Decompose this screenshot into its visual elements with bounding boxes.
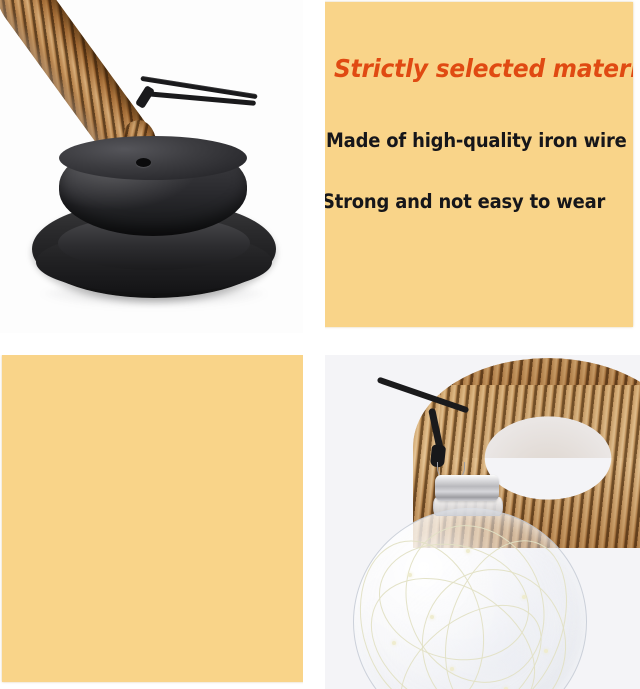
delicate-lamp-holder-panel: Delicate lamp holder Excellent and delic…: [2, 355, 312, 682]
body-line-strong-not-easy-to-wear: Strong and not easy to wear: [322, 190, 605, 213]
fairy-light-bead: [430, 615, 434, 619]
glass-globe-photo: [325, 350, 640, 689]
fairy-light-bead: [466, 549, 470, 553]
globe-metal-cap: [435, 475, 499, 501]
photo-canvas-top-left: [0, 0, 303, 333]
vertical-divider: [303, 0, 325, 689]
text-block-bottom-left: Delicate lamp holder Excellent and delic…: [2, 355, 312, 682]
text-block-top-right: Strictly selected materials Made of high…: [318, 2, 633, 327]
fairy-light-bead: [408, 573, 412, 577]
fairy-light-bead: [544, 649, 548, 653]
product-feature-collage: Strictly selected materials Made of high…: [0, 0, 640, 689]
fairy-light-bead: [522, 595, 526, 599]
fairy-light-bead: [392, 641, 396, 645]
ceiling-rose-top-face: [59, 136, 247, 180]
body-line-iron-wire: Made of high-quality iron wire: [326, 129, 627, 152]
ceiling-rose-cable-hole: [136, 158, 151, 167]
iron-wire-hook: [135, 85, 155, 109]
photo-canvas-bottom-right: [325, 350, 640, 689]
fairy-light-bead: [450, 667, 454, 671]
strictly-selected-materials-panel: Strictly selected materials Made of high…: [318, 2, 633, 327]
heading-strictly-selected-materials: Strictly selected materials: [334, 54, 633, 83]
lamp-holder-base-photo: [0, 0, 303, 333]
